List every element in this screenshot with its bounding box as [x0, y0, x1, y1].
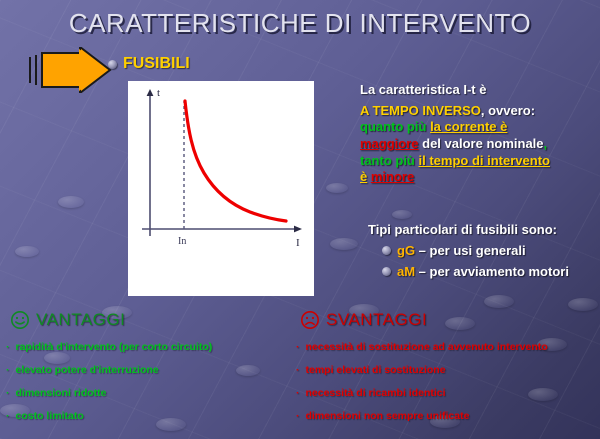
smiley-face-icon [10, 310, 30, 330]
fuse-type-am: aM – per avviamento motori [397, 264, 569, 279]
sad-face-icon [300, 310, 320, 330]
orange-right-arrow-icon [26, 47, 114, 93]
fuse-type-gg-code: gG [397, 243, 415, 258]
explanation-block: La caratteristica I-t è A TEMPO INVERSO,… [360, 82, 598, 186]
tanto-piu-text: tanto più [360, 153, 415, 168]
advantages-list: ·rapidità d'intervento (per corto circui… [6, 341, 296, 433]
list-item: ·rapidità d'intervento (per corto circui… [6, 341, 296, 353]
list-item: ·elevato potere d'interruzione [6, 364, 296, 376]
fusibili-bullet-row: FUSIBILI [108, 55, 190, 73]
disadvantage-item-2: necessità di ricambi identici [306, 387, 446, 399]
disadvantages-heading-row: SVANTAGGI [300, 310, 427, 330]
chart-tick-in: In [178, 236, 186, 247]
background-blob [330, 238, 358, 250]
background-blob [484, 295, 514, 308]
fuse-types-block: Tipi particolari di fusibili sono: gG – … [368, 222, 598, 279]
list-item: gG – per usi generali [382, 243, 598, 258]
background-blob [392, 210, 412, 219]
la-corrente-text: la corrente è [430, 119, 507, 134]
background-blob [568, 298, 598, 311]
slide-canvas: CARATTERISTICHE DI INTERVENTO FUSIBILI t [0, 0, 600, 439]
sphere-bullet-icon [382, 246, 391, 255]
sphere-bullet-icon [382, 267, 391, 276]
disadvantages-list: ·necessità di sostituzione ad avvenuto i… [296, 341, 596, 433]
explanation-line-6: è minore [360, 169, 598, 186]
advantage-item-3: costo limitato [16, 410, 84, 422]
list-item: ·dimensioni non sempre unificate [296, 410, 596, 422]
chart-xlabel: I [296, 237, 300, 249]
background-blob [15, 246, 39, 257]
fuse-type-gg: gG – per usi generali [397, 243, 526, 258]
comma-text: , [544, 136, 548, 151]
advantages-heading: VANTAGGI [36, 310, 125, 330]
list-item: ·tempi elevati di sostituzione [296, 364, 596, 376]
it-characteristic-chart: t I In [128, 81, 314, 296]
fuse-type-am-desc: – per avviamento motori [415, 264, 569, 279]
disadvantage-item-3: dimensioni non sempre unificate [306, 410, 470, 422]
disadvantage-item-1: tempi elevati di sostituzione [306, 364, 446, 376]
chart-curve [185, 101, 286, 221]
list-item: ·dimensioni ridotte [6, 387, 296, 399]
quanto-piu-text: quanto più [360, 119, 426, 134]
explanation-line-3: quanto più la corrente è [360, 119, 598, 136]
disadvantage-item-0: necessità di sostituzione ad avvenuto in… [306, 341, 548, 353]
list-item: ·costo limitato [6, 410, 296, 422]
advantage-item-0: rapidità d'intervento (per corto circuit… [16, 341, 213, 353]
tempo-intervento-text: il tempo di intervento [419, 153, 550, 168]
maggiore-text: maggiore [360, 136, 419, 151]
page-title: CARATTERISTICHE DI INTERVENTO [0, 8, 600, 39]
fusibili-label: FUSIBILI [123, 55, 190, 73]
list-item: ·necessità di sostituzione ad avvenuto i… [296, 341, 596, 353]
explanation-line-4: maggiore del valore nominale, [360, 136, 598, 153]
explanation-line-1: La caratteristica I-t è [360, 82, 598, 99]
list-item: aM – per avviamento motori [382, 264, 598, 279]
tempo-inverso-text: A TEMPO INVERSO [360, 103, 481, 118]
sphere-bullet-icon [108, 60, 117, 69]
advantage-item-2: dimensioni ridotte [16, 387, 107, 399]
advantage-item-1: elevato potere d'interruzione [16, 364, 159, 376]
ovvero-text: , ovvero: [481, 103, 535, 118]
background-blob [445, 317, 475, 330]
advantages-heading-row: VANTAGGI [10, 310, 125, 330]
explanation-line-5: tanto più il tempo di intervento [360, 153, 598, 170]
fuse-types-heading: Tipi particolari di fusibili sono: [368, 222, 598, 237]
minore-text: minore [371, 169, 414, 184]
list-item: ·necessità di ricambi identici [296, 387, 596, 399]
chart-ylabel: t [157, 87, 160, 99]
valore-nominale-text: del valore nominale [422, 136, 543, 151]
explanation-line-2: A TEMPO INVERSO, ovvero: [360, 103, 598, 120]
explanation-line-1-text: La caratteristica I-t è [360, 82, 486, 97]
fuse-type-am-code: aM [397, 264, 415, 279]
fuse-type-gg-desc: – per usi generali [415, 243, 526, 258]
background-blob [58, 196, 84, 208]
disadvantages-heading: SVANTAGGI [326, 310, 427, 330]
background-blob [326, 183, 348, 193]
